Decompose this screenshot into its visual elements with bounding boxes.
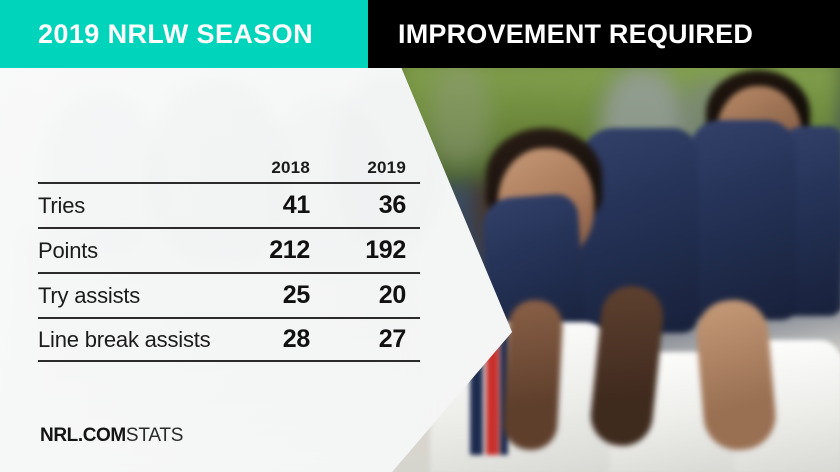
column-header-2018: 2018	[228, 158, 324, 178]
table-row: Line break assists 28 27	[38, 317, 420, 362]
header-season-banner: 2019 NRLW SEASON	[0, 0, 368, 68]
header-headline-banner: IMPROVEMENT REQUIRED	[368, 0, 840, 68]
logo-stats: STATS	[126, 425, 183, 447]
row-label: Try assists	[38, 283, 228, 309]
row-value-2018: 25	[228, 281, 324, 310]
row-value-2019: 20	[324, 281, 420, 310]
row-value-2019: 192	[324, 236, 420, 265]
row-value-2019: 36	[324, 191, 420, 220]
row-value-2018: 212	[228, 236, 324, 265]
row-label: Line break assists	[38, 327, 228, 353]
row-value-2018: 41	[228, 191, 324, 220]
table-row: Tries 41 36	[38, 182, 420, 227]
stats-table: 2018 2019 Tries 41 36 Points 212 192 Try…	[38, 148, 420, 362]
nrl-stats-logo: NRL.COM STATS	[40, 425, 183, 447]
row-value-2018: 28	[228, 325, 324, 354]
season-title: 2019 NRLW SEASON	[38, 19, 313, 50]
logo-nrlcom: NRL.COM	[40, 425, 126, 447]
row-value-2019: 27	[324, 325, 420, 354]
row-label: Points	[38, 238, 228, 264]
infographic-root: 2019 NRLW SEASON IMPROVEMENT REQUIRED 20…	[0, 0, 840, 472]
column-header-2019: 2019	[324, 158, 420, 178]
table-header-row: 2018 2019	[38, 148, 420, 182]
header-bar: 2019 NRLW SEASON IMPROVEMENT REQUIRED	[0, 0, 840, 68]
table-row: Try assists 25 20	[38, 272, 420, 317]
headline-title: IMPROVEMENT REQUIRED	[398, 19, 753, 50]
table-row: Points 212 192	[38, 227, 420, 272]
row-label: Tries	[38, 193, 228, 219]
